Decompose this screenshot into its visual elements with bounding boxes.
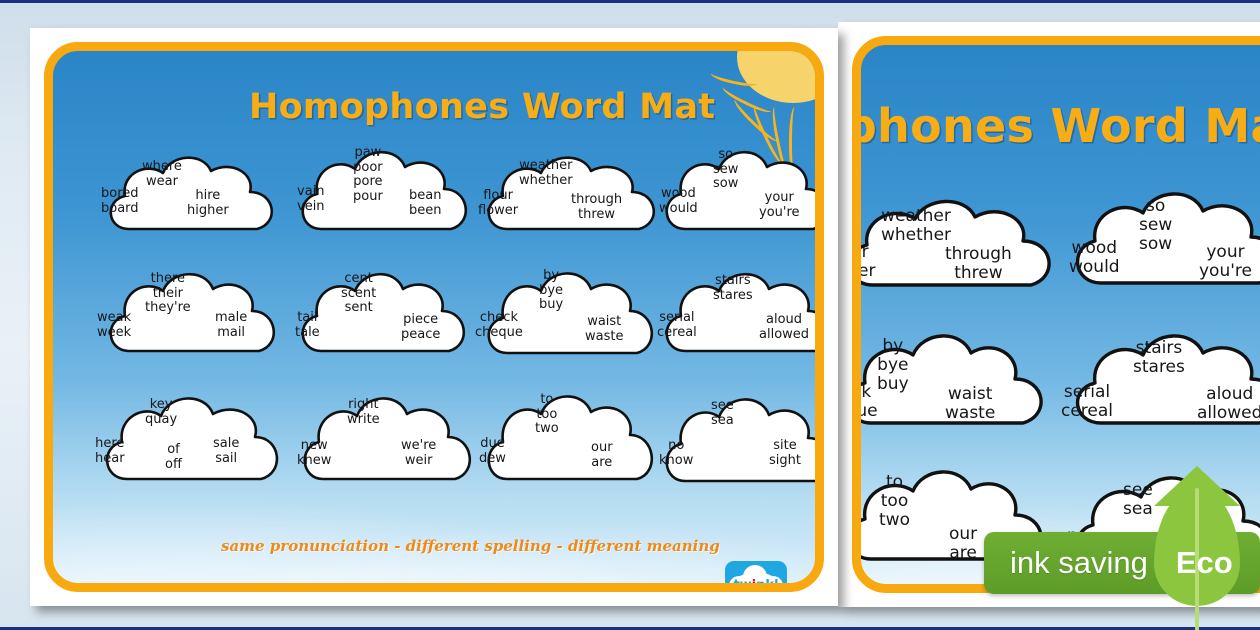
cloud-words-top: totootwo — [535, 393, 559, 437]
cloud-words-left: noknow — [659, 439, 693, 468]
cloud-words-top: keyquay — [145, 398, 177, 427]
page-subtitle: same pronunciation - different spelling … — [221, 537, 720, 555]
cloud-words-right: salesail — [213, 437, 239, 466]
page-title: Homophones Word Mat — [249, 87, 715, 127]
ink-saving-eco-badge[interactable]: ink saving Eco — [984, 532, 1260, 594]
cloud-words-top: seesea — [711, 399, 734, 428]
cloud-key-quay[interactable]: keyquay herehear ofoff salesail — [95, 391, 281, 499]
cloud-there-their-theyre[interactable]: theretheirthey're weakweek malemail — [99, 267, 277, 371]
cloud-words-top: centscentsent — [341, 272, 376, 316]
cloud-by-bye-buy[interactable]: bybyebuy checkcheque waistwaste — [477, 263, 655, 373]
cloud-words-left: serialcereal — [657, 311, 697, 340]
cloud-words-right: beanbeen — [409, 189, 442, 218]
cloud-words-mid: ofoff — [165, 443, 182, 472]
cloud-words-top: pawpoorporepour — [353, 146, 383, 204]
foreground-poster-page[interactable]: Homophones Word Mat wherewear boredboard… — [30, 28, 838, 606]
eco-badge-label: ink saving — [1010, 545, 1148, 581]
cloud-words-left: vainvein — [297, 185, 325, 214]
cloud-words-right: waistwaste — [585, 315, 623, 344]
cloud-words-right: piecepeace — [401, 313, 440, 342]
cloud-words-right: ourare — [591, 441, 613, 470]
cloud-see-sea[interactable]: seesea noknow sitesight — [655, 391, 824, 501]
cloud-group: weatherwhether flourflower throughthrew — [852, 193, 1093, 309]
cloud-words-right: malemail — [215, 311, 247, 340]
cloud-words-top: bybyebuy — [539, 269, 563, 313]
cloud-words-left: boredboard — [101, 187, 139, 216]
cloud-words-left: woodwould — [659, 187, 698, 216]
cloud-to-too-two[interactable]: totootwo duedew ourare — [477, 387, 655, 499]
cloud-words-left: flourflower — [478, 189, 518, 218]
cloud-words-top: weatherwhether — [519, 159, 573, 188]
cloud-words-right: sitesight — [769, 439, 801, 468]
cloud-words-left: herehear — [95, 437, 125, 466]
cloud-right-write[interactable]: rightwrite newknew we'reweir — [293, 391, 473, 499]
twinkl-logo[interactable]: twinkl — [725, 561, 787, 592]
cloud-words-right: we'reweir — [401, 439, 436, 468]
cloud-words-left: weakweek — [97, 311, 131, 340]
cloud-words-left: checkcheque — [475, 311, 523, 340]
cloud-words-top: wherewear — [142, 160, 182, 189]
cloud-weather-whether[interactable]: weatherwhether flourflower throughthrew — [477, 151, 657, 249]
word-mat: Homophones Word Mat wherewear boredboard… — [44, 42, 824, 592]
cloud-words-top: sosewsow — [713, 148, 738, 192]
window-top-border — [0, 0, 1260, 3]
cloud-words-left: tailtale — [295, 311, 320, 340]
cloud-words-top: stairsstares — [713, 274, 753, 303]
cloud-words-top: theretheirthey're — [145, 272, 191, 316]
cloud-paw-poor[interactable]: pawpoorporepour vainvein beanbeen — [291, 143, 469, 249]
cloud-group: stairsstares serialcereal aloudallowed — [1061, 327, 1260, 447]
cloud-words-top: rightwrite — [347, 398, 380, 427]
cloud-cent-scent-sent[interactable]: centscentsent tailtale piecepeace — [291, 267, 467, 371]
cloud-words-left: duedew — [479, 437, 506, 466]
cloud-words-right: aloudallowed — [759, 313, 809, 342]
eco-badge-eco-word: Eco — [1176, 545, 1233, 581]
cloud-stairs-stares[interactable]: stairsstares serialcereal aloudallowed — [655, 267, 824, 371]
cloud-group: sosewsow woodwould youryou're — [1061, 185, 1260, 309]
cloud-words-right: hirehigher — [187, 189, 229, 218]
cloud-words-left: newknew — [297, 439, 331, 468]
cloud-so-sew-sow[interactable]: sosewsow woodwould youryou're — [655, 143, 824, 249]
cloud-where-wear[interactable]: wherewear boredboard hirehigher — [99, 151, 275, 249]
cloud-group: bybyebuy checkcheque waistwaste — [852, 327, 1083, 447]
cloud-words-right: youryou're — [759, 191, 800, 220]
twinkl-wordmark: twinkl — [733, 578, 778, 593]
background-page-title: Homophones Word Mat — [852, 99, 1260, 153]
cloud-words-right: throughthrew — [571, 193, 622, 222]
